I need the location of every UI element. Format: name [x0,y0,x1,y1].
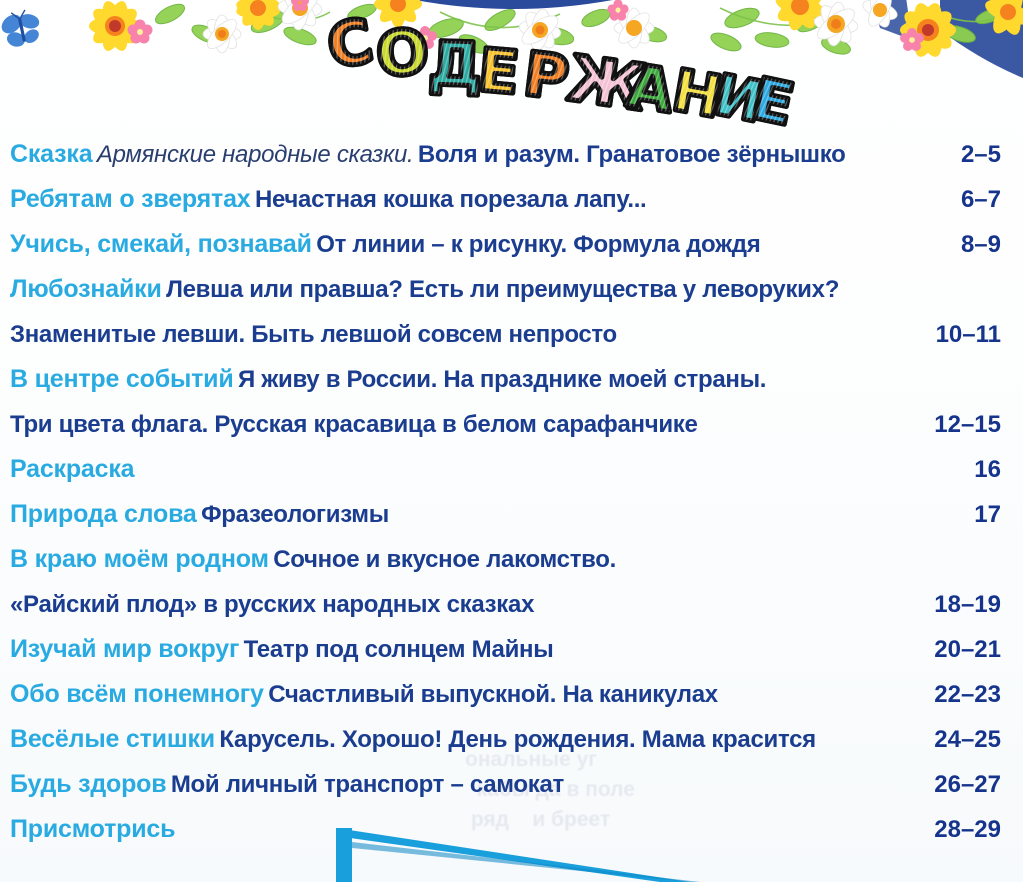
contents-row[interactable]: Изучай мир вокруг Театр под солнцем Майн… [0,627,1023,672]
butterfly [0,6,46,53]
title-letter: ДД [427,29,483,101]
page-number: 18–19 [934,582,1001,627]
rubric-label: Весёлые стишки [10,725,215,753]
rubric-label: Обо всём понемногу [10,680,264,708]
contents-row[interactable]: Ребятам о зверятах Нечастная кошка порез… [0,177,1023,222]
page-number: 28–29 [934,807,1001,852]
contents-row[interactable]: Присмотрись 28–29 [0,807,1023,852]
page-number: 2–5 [961,132,1001,177]
rubric-label: Ребятам о зверятах [10,185,250,213]
rubric-label: Присмотрись [10,815,175,843]
rubric-label: Учись, смекай, познавай [10,230,312,258]
rubric-label: Изучай мир вокруг [10,635,239,663]
description-text: Театр под солнцем Майны [244,636,554,663]
contents-row[interactable]: Природа слова Фразеологизмы17 [0,492,1023,537]
description-text: Сочное и вкусное лакомство. [273,546,616,573]
rubric-label: Раскраска [10,455,134,483]
description-text: Три цвета флага. Русская красавица в бел… [10,411,698,438]
page-number: 16 [974,447,1001,492]
page-number: 26–27 [934,762,1001,807]
title-letter: ЕЕ [476,35,522,107]
rubric-label: Сказка [10,140,92,168]
description-text: Мой личный транспорт – самокат [171,771,564,798]
contents-row[interactable]: Раскраска 16 [0,447,1023,492]
svg-text:С: С [322,6,378,83]
rubric-label: Любознайки [10,275,162,303]
page-number: 8–9 [961,222,1001,267]
contents-list: Сказка Армянские народные сказки. Воля и… [0,132,1023,852]
svg-text:Е: Е [476,35,522,107]
description-text: Карусель. Хорошо! День рождения. Мама кр… [219,726,815,753]
rubric-label: Природа слова [10,500,197,528]
page-number: 24–25 [934,717,1001,762]
description-text: Левша или правша? Есть ли преимущества у… [166,276,839,303]
magazine-contents-page: .bl { font-family: "DejaVu Sans", sans-s… [0,0,1023,882]
description-text: Знаменитые левши. Быть левшой совсем неп… [10,321,617,348]
contents-row[interactable]: Учись, смекай, познавай От линии – к рис… [0,222,1023,267]
description-text: «Райский плод» в русских народных сказка… [10,591,534,618]
page-number: 20–21 [934,627,1001,672]
page-number: 10–11 [936,312,1001,357]
rubric-label: Будь здоров [10,770,166,798]
description-text: Воля и разум. Гранатовое зёрнышко [418,141,846,168]
rubric-label: В центре событий [10,365,234,393]
contents-row[interactable]: Знаменитые левши. Быть левшой совсем неп… [0,312,1023,357]
contents-row[interactable]: Обо всём понемногу Счастливый выпускной.… [0,672,1023,717]
description-text: Нечастная кошка порезала лапу... [255,186,647,213]
contents-row[interactable]: В центре событий Я живу в России. На пра… [0,357,1023,402]
page-number: 6–7 [961,177,1001,222]
page-number: 12–15 [934,402,1001,447]
title-letter: ОО [374,17,431,91]
contents-row[interactable]: Будь здоров Мой личный транспорт – самок… [0,762,1023,807]
page-title: .bl { font-family: "DejaVu Sans", sans-s… [330,6,800,121]
svg-text:О: О [374,17,431,91]
title-letter: СС [322,6,378,83]
description-text: От линии – к рисунку. Формула дождя [316,231,760,258]
contents-row[interactable]: Сказка Армянские народные сказки. Воля и… [0,132,1023,177]
description-text: Счастливый выпускной. На каникулах [268,681,718,708]
page-number: 22–23 [934,672,1001,717]
contents-row[interactable]: «Райский плод» в русских народных сказка… [0,582,1023,627]
description-text: Я живу в России. На празднике моей стран… [238,366,766,393]
page-number: 17 [974,492,1001,537]
contents-row[interactable]: Любознайки Левша или правша? Есть ли пре… [0,267,1023,312]
contents-row[interactable]: В краю моём родном Сочное и вкусное лако… [0,537,1023,582]
contents-row[interactable]: Три цвета флага. Русская красавица в бел… [0,402,1023,447]
svg-text:Д: Д [427,29,483,101]
contents-row[interactable]: Весёлые стишки Карусель. Хорошо! День ро… [0,717,1023,762]
description-text: Фразеологизмы [201,501,389,528]
rubric-label: В краю моём родном [10,545,269,573]
description-italic: Армянские народные сказки. [97,141,414,168]
